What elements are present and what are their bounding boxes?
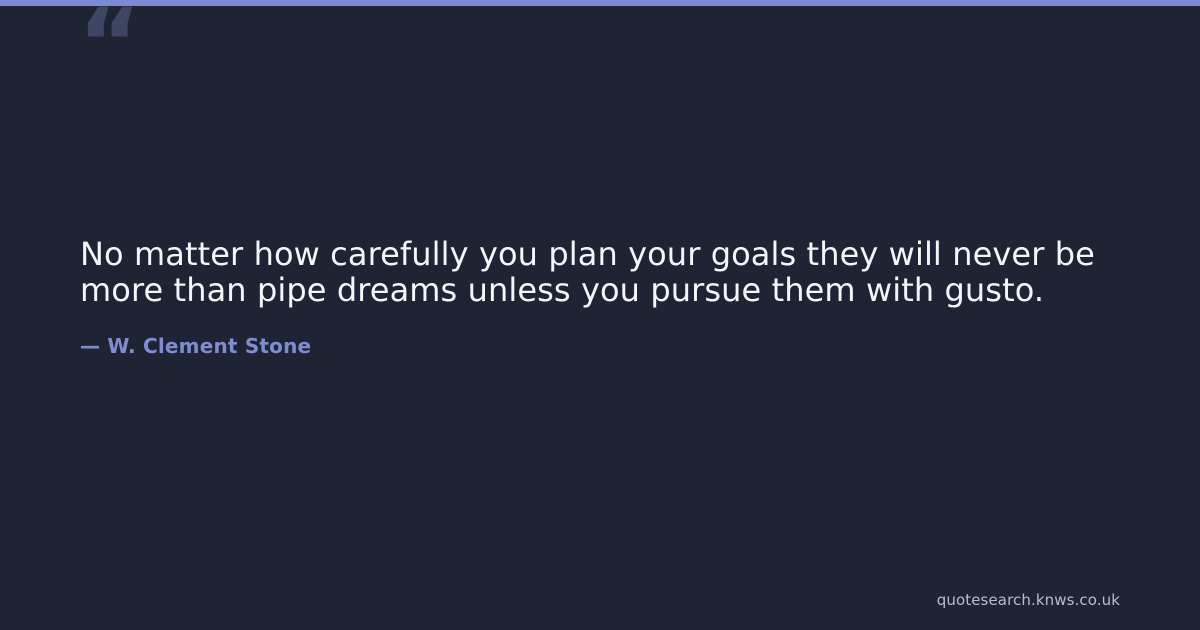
quote-text: No matter how carefully you plan your go… [80, 236, 1110, 308]
double-quote-icon: “ [78, 0, 139, 92]
quote-attribution: — W. Clement Stone [80, 308, 1110, 359]
quote-content: No matter how carefully you plan your go… [80, 236, 1110, 359]
footer-source-url: quotesearch.knws.co.uk [937, 591, 1120, 609]
top-accent-bar [0, 0, 1200, 6]
quote-card: “ No matter how carefully you plan your … [0, 0, 1200, 630]
